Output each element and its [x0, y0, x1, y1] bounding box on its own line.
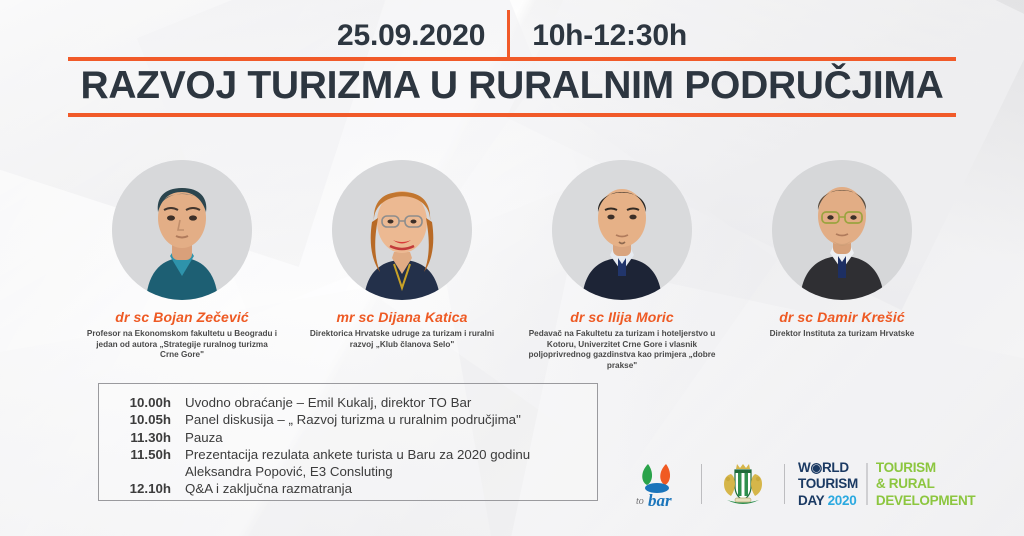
logo-divider	[701, 464, 702, 504]
wtd-right-text: TOURISM & RURAL DEVELOPMENT	[876, 461, 975, 508]
speaker-card: mr sc Dijana Katica Direktorica Hrvatske…	[292, 160, 512, 371]
wtd-left-text: W◉RLD TOURISM DAY 2020	[798, 461, 858, 508]
agenda-time: 11.30h	[117, 429, 185, 446]
wtd-theme-line1: TOURISM	[876, 461, 975, 475]
logo-strip: to bar W◉RLD	[628, 458, 975, 510]
agenda-row: 10.00h Uvodno obraćanje – Emil Kukalj, d…	[117, 394, 597, 411]
title-rule-bottom	[68, 113, 956, 117]
speaker-name: dr sc Damir Krešić	[732, 309, 952, 325]
wtd-theme-line3: DEVELOPMENT	[876, 494, 975, 508]
agenda-text: Uvodno obraćanje – Emil Kukalj, direktor…	[185, 394, 597, 411]
wtd-day: DAY	[798, 493, 824, 508]
wtd-w: W	[798, 460, 810, 475]
speaker-description: Direktorica Hrvatske udruge za turizam i…	[292, 329, 512, 350]
wtd-tourism: TOURISM	[798, 477, 858, 491]
agenda-time: 11.50h	[117, 446, 185, 463]
wtd-year: 2020	[828, 493, 857, 508]
speaker-name: mr sc Dijana Katica	[292, 309, 512, 325]
speakers-row: dr sc Bojan Zečević Profesor na Ekonomsk…	[0, 160, 1024, 371]
speaker-photo	[552, 160, 692, 300]
bar-municipality-coat-of-arms	[715, 460, 771, 508]
agenda-text: Pauza	[185, 429, 597, 446]
speaker-name: dr sc Bojan Zečević	[72, 309, 292, 325]
speaker-card: dr sc Damir Krešić Direktor Instituta za…	[732, 160, 952, 371]
to-bar-logo: to bar	[628, 458, 688, 510]
agenda-row: 11.50h Prezentacija rezulata ankete turi…	[117, 446, 597, 463]
title-rule-top	[68, 57, 956, 61]
world-tourism-day-logo: W◉RLD TOURISM DAY 2020 TOURISM & RURAL D…	[798, 461, 975, 508]
agenda-time: 10.05h	[117, 411, 185, 428]
speaker-photo	[332, 160, 472, 300]
agenda-row: Aleksandra Popović, E3 Consluting	[117, 463, 597, 480]
speaker-card: dr sc Ilija Moric Pedavač na Fakultetu z…	[512, 160, 732, 371]
agenda-list: 10.00h Uvodno obraćanje – Emil Kukalj, d…	[99, 384, 597, 498]
agenda-time: 12.10h	[117, 480, 185, 497]
agenda-text: Aleksandra Popović, E3 Consluting	[185, 463, 597, 480]
agenda-text: Q&A i zaključna razmatranja	[185, 480, 597, 497]
speaker-name: dr sc Ilija Moric	[512, 309, 732, 325]
page-title: RAZVOJ TURIZMA U RURALNIM PODRUČJIMA	[0, 62, 1024, 110]
speaker-description: Direktor Instituta za turizam Hrvatske	[732, 329, 952, 340]
svg-text:to: to	[636, 496, 644, 507]
agenda-text: Prezentacija rezulata ankete turista u B…	[185, 446, 597, 463]
speaker-description: Profesor na Ekonomskom fakultetu u Beogr…	[72, 329, 292, 361]
speaker-description: Pedavač na Fakultetu za turizam i hotelj…	[512, 329, 732, 371]
event-time: 10h-12:30h	[510, 19, 687, 53]
event-date: 25.09.2020	[337, 19, 507, 53]
agenda-time: 10.00h	[117, 394, 185, 411]
wtd-theme-line2: & RURAL	[876, 477, 975, 491]
agenda-time	[117, 463, 185, 480]
agenda-row: 11.30h Pauza	[117, 429, 597, 446]
agenda-box: 10.00h Uvodno obraćanje – Emil Kukalj, d…	[98, 383, 598, 501]
wtd-divider	[866, 463, 868, 505]
globe-icon: ◉	[810, 460, 821, 475]
agenda-row: 10.05h Panel diskusija – „ Razvoj turizm…	[117, 411, 597, 428]
logo-divider	[784, 464, 785, 504]
poster-canvas: 25.09.2020 10h-12:30h RAZVOJ TURIZMA U R…	[0, 0, 1024, 536]
speaker-card: dr sc Bojan Zečević Profesor na Ekonomsk…	[72, 160, 292, 371]
wtd-rld: RLD	[822, 460, 849, 475]
event-datetime: 25.09.2020 10h-12:30h	[0, 14, 1024, 58]
speaker-photo	[112, 160, 252, 300]
speaker-photo	[772, 160, 912, 300]
svg-text:bar: bar	[648, 491, 672, 510]
agenda-row: 12.10h Q&A i zaključna razmatranja	[117, 480, 597, 497]
agenda-text: Panel diskusija – „ Razvoj turizma u rur…	[185, 411, 597, 428]
